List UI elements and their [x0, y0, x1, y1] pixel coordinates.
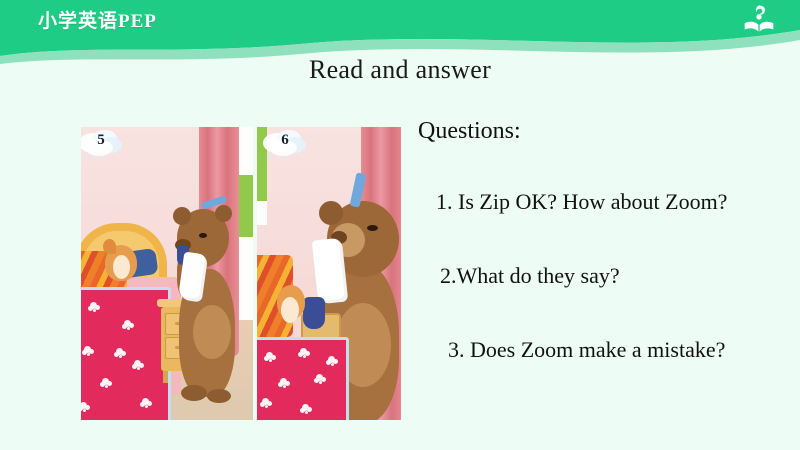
- header-brand-title: 小学英语PEP: [38, 6, 157, 33]
- bear-eye: [199, 233, 207, 238]
- bear-foot: [181, 385, 207, 401]
- questions-column: Questions: 1. Is Zip OK? How about Zoom?…: [418, 118, 796, 363]
- story-panel-6: 6: [257, 127, 401, 420]
- fox-face: [113, 255, 130, 279]
- bear-ear: [173, 207, 191, 225]
- fox-ear: [103, 239, 116, 254]
- nightstand-leg: [163, 371, 168, 383]
- slide-canvas: 小学英语PEP Read and answer: [0, 0, 800, 450]
- quilt: [257, 337, 349, 420]
- page-title: Read and answer: [0, 55, 800, 85]
- bear-eye: [367, 225, 378, 231]
- question-item-2: 2.What do they say?: [440, 263, 796, 289]
- bear-foot: [207, 389, 231, 403]
- open-book-sprout-logo-icon: [742, 3, 776, 35]
- question-item-3: 3. Does Zoom make a mistake?: [448, 337, 796, 363]
- panel-number-label: 5: [81, 132, 125, 149]
- quilt: [81, 287, 171, 420]
- story-panel-5: 5: [81, 127, 253, 420]
- bear-ear: [215, 205, 232, 222]
- panel-number-badge-5: 5: [81, 127, 125, 159]
- panel-number-badge-6: 6: [261, 127, 309, 159]
- story-picture-strip: 5: [81, 127, 401, 420]
- question-item-1: 1. Is Zip OK? How about Zoom?: [436, 189, 796, 215]
- panel-number-label: 6: [261, 132, 309, 149]
- fox-face: [281, 297, 299, 323]
- bear-belly: [193, 305, 231, 359]
- bear-ear: [319, 201, 343, 225]
- questions-heading: Questions:: [418, 118, 796, 145]
- blue-object: [303, 297, 325, 329]
- window-pane: [257, 201, 267, 225]
